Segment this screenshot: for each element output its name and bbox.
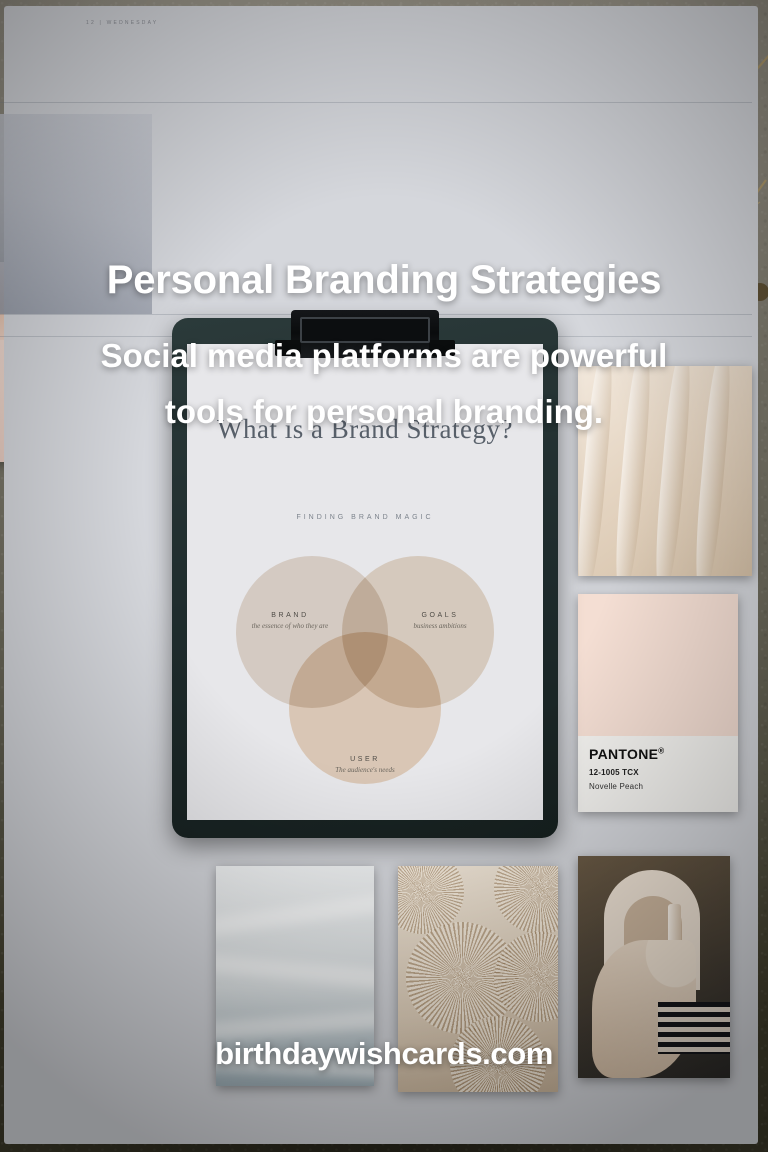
pinterest-style-graphic: 12 | WEDNESDAY PANTONE® 12-1005 TCX Nove… [0,0,768,1152]
site-watermark: birthdaywishcards.com [0,1036,768,1072]
page-subtitle: Social media platforms are powerful tool… [78,328,690,440]
text-overlay: Personal Branding Strategies Social medi… [0,0,768,1152]
page-title: Personal Branding Strategies [0,258,768,303]
